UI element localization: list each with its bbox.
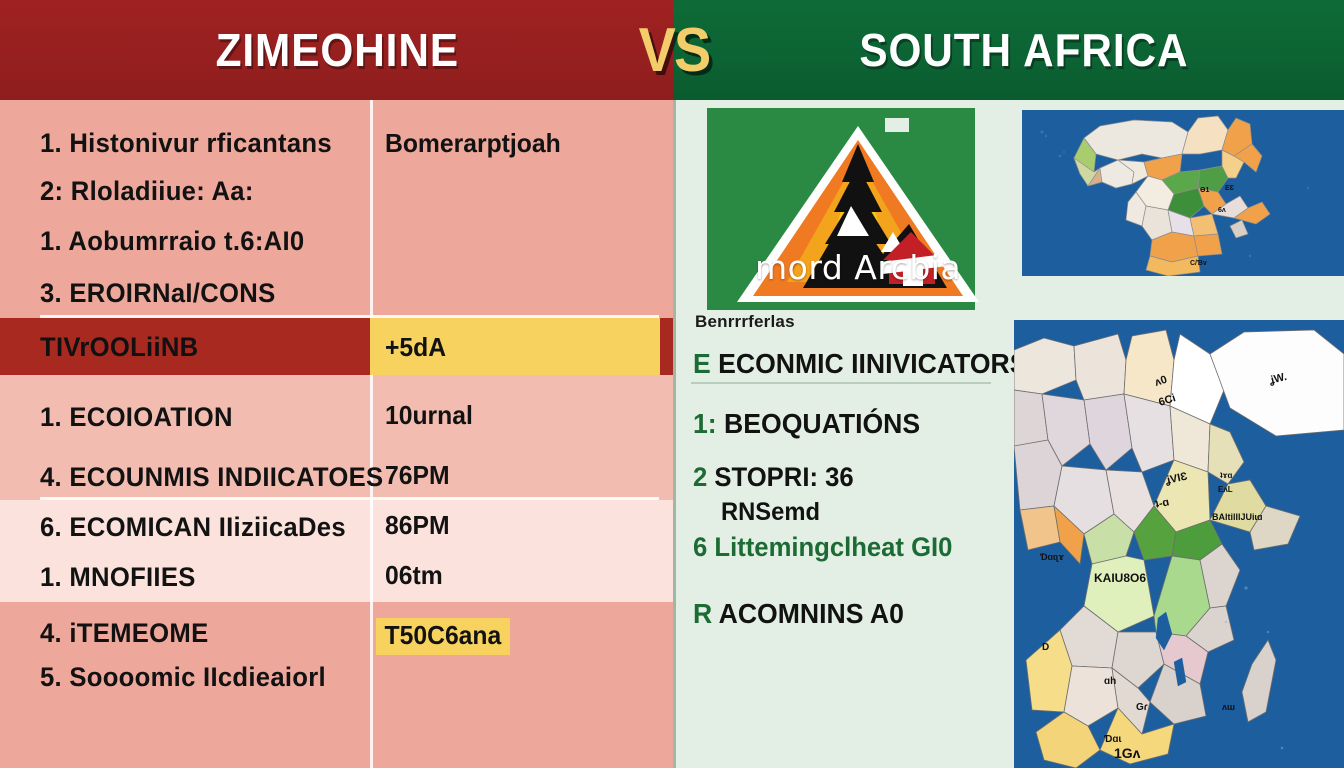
svg-text:KAIU8O6: KAIU8O6 xyxy=(1094,571,1146,585)
vs-badge: VS xyxy=(633,16,716,86)
list-item-label: RNSemd xyxy=(721,498,820,526)
africa-continent-map: Ɵ1 EƐ 6ᴧ C/Ɓv xyxy=(1022,110,1344,276)
row-label: 3. EROIRNaI/CONS xyxy=(40,278,275,309)
row-label: 4. ECOUNMIS INDIICATOES xyxy=(40,462,383,493)
list-item: 6 Littemingclheat GI0 xyxy=(693,532,952,563)
svg-text:Ɗɑɩʅɤ: Ɗɑɩʅɤ xyxy=(1040,552,1065,562)
list-item: RNSemd xyxy=(721,498,820,527)
column-divider xyxy=(370,100,373,318)
africa-regional-detail-map: ʌ0 6Ci ʝW. ʝVIƐ ʇ-ɑ ʇɤɑ EᴧL BAltilIlJUiɩ… xyxy=(1014,320,1344,768)
list-item: 2 STOPRI: 36 xyxy=(693,462,854,493)
list-item: R ACOMNINS A0 xyxy=(693,598,904,630)
list-item-label: Littemingclheat GI0 xyxy=(714,532,952,562)
svg-text:1Gᴧ: 1Gᴧ xyxy=(1114,745,1141,761)
row-value: 86PM xyxy=(385,510,450,541)
list-item-number: 6 xyxy=(693,532,707,562)
row-label: 1. Aobumrraio t.6:AI0 xyxy=(40,226,304,257)
svg-text:ʌɯ: ʌɯ xyxy=(1222,702,1235,712)
svg-text:EƐ: EƐ xyxy=(1225,185,1235,192)
header-right-title: SOUTH AFRICA xyxy=(859,23,1188,77)
row-label: 1. MNOFIIES xyxy=(40,562,196,593)
list-item: 1: BEOQUATIÓNS xyxy=(693,408,920,440)
list-item-label: STOPRI: 36 xyxy=(714,462,853,492)
list-item-label: ACOMNINS A0 xyxy=(719,598,904,629)
left-comparison-table: 1. Histonivur rficantans 2: Rloladiiue: … xyxy=(0,100,673,768)
row-value: 76PM xyxy=(385,460,450,491)
section-rule xyxy=(691,382,991,384)
row-label: 5. Soooomic IIcdieaiorl xyxy=(40,662,326,693)
logo-wordmark: mord Arcbia xyxy=(755,248,985,287)
list-item-number: R xyxy=(693,598,712,629)
svg-text:ʇɤɑ: ʇɤɑ xyxy=(1220,471,1232,480)
list-item-number: 1: xyxy=(693,408,717,439)
list-item-label: ECONMIC IINIVICATORS xyxy=(718,348,1027,379)
row-value: Bomerarptjoah xyxy=(385,128,561,159)
row-value: 10urnal xyxy=(385,400,473,431)
row-label: 1. ECOIOATION xyxy=(40,402,233,433)
logo-caption: Benrrrferlas xyxy=(695,312,795,332)
svg-text:Gɾ: Gɾ xyxy=(1136,702,1148,713)
svg-text:EᴧL: EᴧL xyxy=(1218,485,1233,494)
row-value: +5dA xyxy=(385,332,446,363)
svg-text:ɑh: ɑh xyxy=(1104,676,1116,687)
comparison-infographic: ZIMEOHINE SOUTH AFRICA VS 1. Histonivur … xyxy=(0,0,1344,768)
row-label: 6. ECOMICAN IIiziicaDes xyxy=(40,512,346,543)
header-bar: ZIMEOHINE SOUTH AFRICA VS xyxy=(0,0,1344,100)
list-item-number: 2 xyxy=(693,462,707,492)
row-value: 06tm xyxy=(385,560,443,591)
svg-text:Ɵ1: Ɵ1 xyxy=(1200,187,1209,194)
svg-text:D: D xyxy=(1042,642,1049,653)
row-label: 1. Histonivur rficantans xyxy=(40,128,332,159)
svg-text:C/Ɓv: C/Ɓv xyxy=(1190,260,1207,267)
list-item-label: BEOQUATIÓNS xyxy=(724,408,920,439)
svg-text:Ɗɑɩ: Ɗɑɩ xyxy=(1104,734,1121,745)
row-label: TIVrOOLiiNB xyxy=(40,332,198,363)
header-left-title: ZIMEOHINE xyxy=(216,23,459,77)
row-label: 4. iTEMEOME xyxy=(40,618,208,649)
panel-divider xyxy=(673,100,676,768)
row-divider xyxy=(40,497,659,500)
row-label: 2: Rloladiiue: Aa: xyxy=(40,176,254,207)
list-item-number: E xyxy=(693,348,711,379)
svg-text:6ᴧ: 6ᴧ xyxy=(1218,207,1226,214)
column-divider xyxy=(370,500,373,602)
column-divider xyxy=(370,602,373,768)
row-value-highlighted: T50C6ana xyxy=(376,618,510,655)
organization-logo: mord Arcbia xyxy=(707,108,987,323)
svg-text:BAltilIlJUiɩɑ: BAltilIlJUiɩɑ xyxy=(1212,512,1263,522)
list-item: E ECONMIC IINIVICATORS xyxy=(693,348,1028,380)
